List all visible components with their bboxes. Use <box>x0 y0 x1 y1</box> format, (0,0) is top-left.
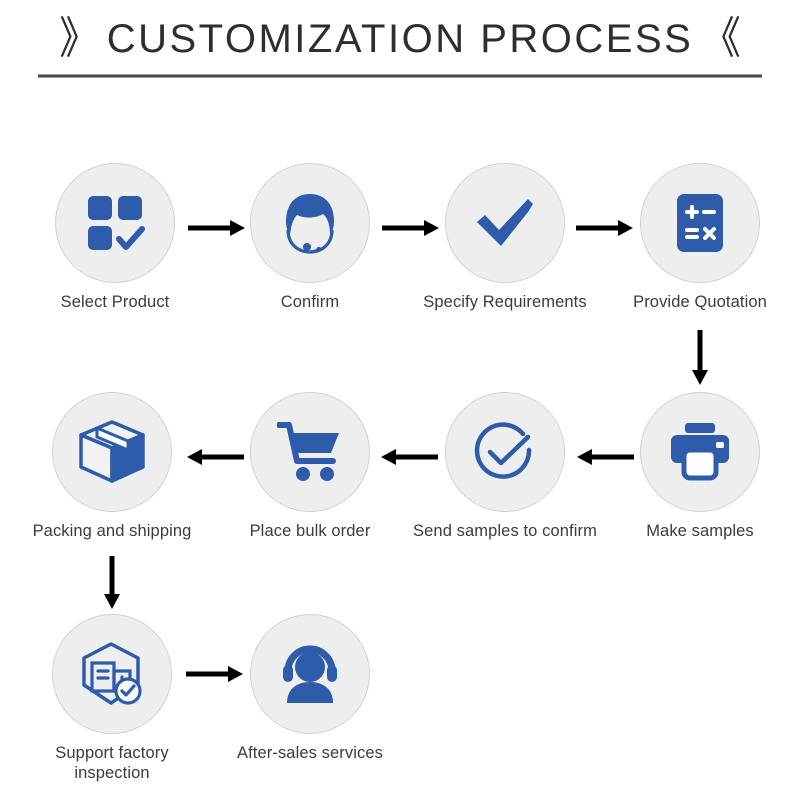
step-label: Confirm <box>210 292 410 312</box>
step-icon-circle <box>250 163 370 283</box>
support-agent-icon <box>277 643 343 705</box>
box-package-icon <box>77 419 147 485</box>
title-row: 》 CUSTOMIZATION PROCESS 《 <box>0 10 800 68</box>
shopping-cart-icon <box>277 421 343 483</box>
chevron-left-decoration-icon: 《 <box>702 17 742 61</box>
step-after-sales-services[interactable]: After-sales services <box>210 614 410 763</box>
step-label: Provide Quotation <box>600 292 800 312</box>
step-label: Send samples to confirm <box>405 521 605 541</box>
step-label: Specify Requirements <box>405 292 605 312</box>
step-support-factory-inspection[interactable]: Support factory inspection <box>12 614 212 783</box>
step-label: Support factory inspection <box>12 743 212 783</box>
step-label: Make samples <box>600 521 800 541</box>
title-divider <box>38 74 762 78</box>
step-icon-circle <box>55 163 175 283</box>
step-icon-circle <box>52 392 172 512</box>
step-label: After-sales services <box>210 743 410 763</box>
grid-check-icon <box>83 191 147 255</box>
page-header: 》 CUSTOMIZATION PROCESS 《 <box>0 0 800 90</box>
step-confirm[interactable]: Confirm <box>210 163 410 312</box>
step-send-samples-to-confirm[interactable]: Send samples to confirm <box>405 392 605 541</box>
step-icon-circle <box>250 614 370 734</box>
step-specify-requirements[interactable]: Specify Requirements <box>405 163 605 312</box>
step-icon-circle <box>445 392 565 512</box>
step-label: Place bulk order <box>210 521 410 541</box>
checkmark-icon <box>472 190 538 256</box>
step-label: Packing and shipping <box>12 521 212 541</box>
headset-operator-icon <box>275 188 345 258</box>
step-make-samples[interactable]: Make samples <box>600 392 800 541</box>
step-icon-circle <box>445 163 565 283</box>
printer-icon <box>667 422 733 482</box>
step-icon-circle <box>250 392 370 512</box>
factory-inspection-shield-icon <box>78 641 146 707</box>
step-icon-circle <box>640 392 760 512</box>
step-label: Select Product <box>15 292 215 312</box>
step-icon-circle <box>52 614 172 734</box>
chevron-right-decoration-icon: 》 <box>59 17 99 61</box>
arrow-row2-to-row3 <box>102 556 122 610</box>
step-icon-circle <box>640 163 760 283</box>
page-title: CUSTOMIZATION PROCESS <box>107 19 694 59</box>
step-packing-and-shipping[interactable]: Packing and shipping <box>12 392 212 541</box>
circle-check-icon <box>473 420 537 484</box>
calculator-icon <box>669 192 731 254</box>
step-provide-quotation[interactable]: Provide Quotation <box>600 163 800 312</box>
step-select-product[interactable]: Select Product <box>15 163 215 312</box>
arrow-row1-to-row2 <box>690 330 710 386</box>
